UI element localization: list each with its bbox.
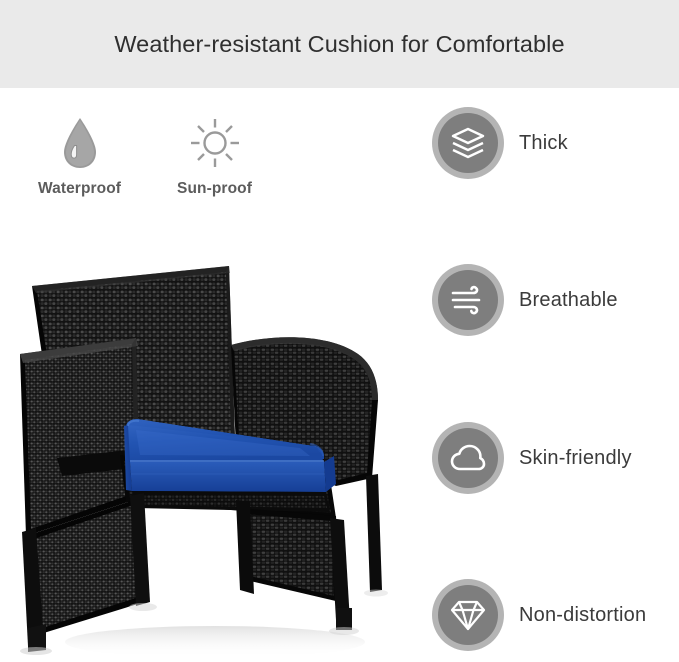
- feature-label-non-distortion: Non-distortion: [519, 604, 646, 627]
- feature-label-thick: Thick: [519, 132, 568, 155]
- feature-label-skin-friendly: Skin-friendly: [519, 447, 632, 470]
- badge-label-sun-proof: Sun-proof: [177, 180, 252, 198]
- sun-icon: [187, 112, 243, 174]
- badge-sun-proof: Sun-proof: [147, 112, 282, 198]
- page-title: Weather-resistant Cushion for Comfortabl…: [114, 31, 564, 58]
- diamond-icon: [432, 579, 504, 651]
- product-image: [0, 250, 420, 662]
- feature-item-skin-friendly: Skin-friendly: [432, 415, 679, 501]
- wind-icon: [432, 264, 504, 336]
- badge-waterproof: Waterproof: [12, 112, 147, 198]
- badge-label-waterproof: Waterproof: [38, 180, 121, 198]
- feature-list: Thick Breathable Skin-friendly: [432, 100, 679, 662]
- chair-illustration: [0, 250, 420, 662]
- header-banner: Weather-resistant Cushion for Comfortabl…: [0, 0, 679, 88]
- feature-item-thick: Thick: [432, 100, 679, 186]
- feature-label-breathable: Breathable: [519, 289, 618, 312]
- water-drop-icon: [60, 112, 100, 174]
- product-infographic: Weather-resistant Cushion for Comfortabl…: [0, 0, 679, 662]
- feature-item-non-distortion: Non-distortion: [432, 572, 679, 658]
- cloud-icon: [432, 422, 504, 494]
- feature-item-breathable: Breathable: [432, 257, 679, 343]
- layers-icon: [432, 107, 504, 179]
- attribute-badge-row: Waterproof S: [12, 112, 282, 198]
